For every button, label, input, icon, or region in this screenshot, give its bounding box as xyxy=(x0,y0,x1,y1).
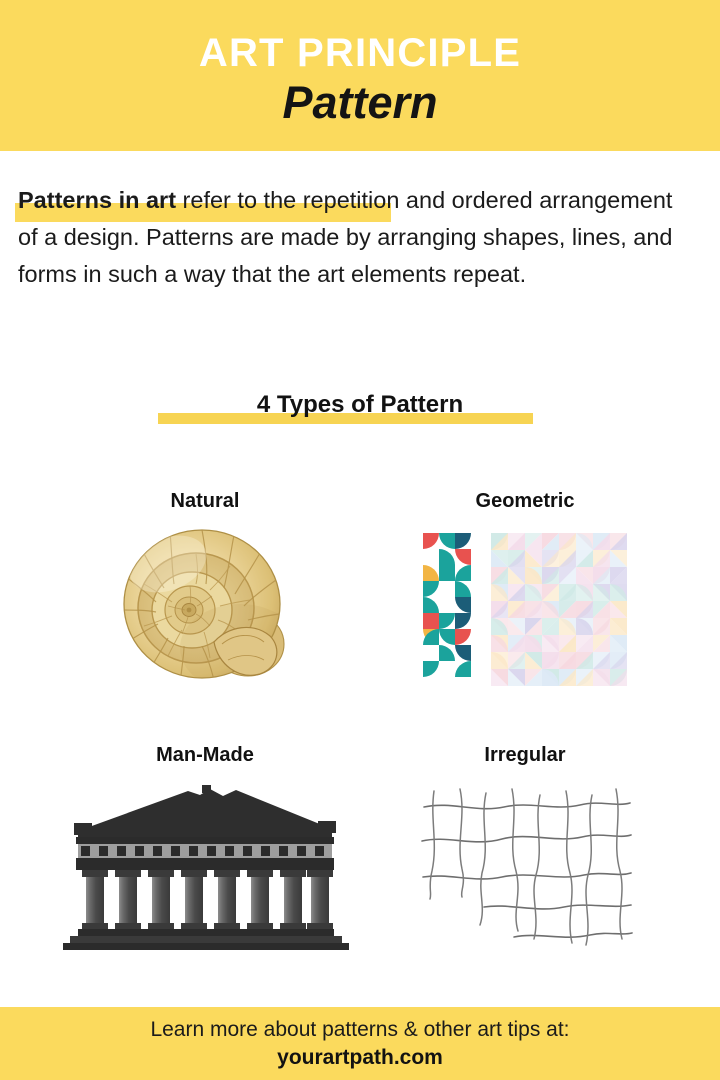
pattern-type-geometric: Geometric xyxy=(370,488,680,699)
section-heading-group: 4 Types of Pattern xyxy=(0,390,720,430)
greek-temple-columns-icon xyxy=(40,768,370,968)
footer-tagline: Learn more about patterns & other art ti… xyxy=(150,1016,569,1044)
pattern-type-natural: Natural xyxy=(40,488,370,699)
header-banner: ART PRINCIPLE Pattern xyxy=(0,0,720,151)
pattern-type-manmade-label: Man-Made xyxy=(40,742,370,768)
pattern-type-irregular-label: Irregular xyxy=(370,742,680,768)
pattern-type-irregular: Irregular xyxy=(370,742,680,968)
wavy-irregular-grid-icon xyxy=(370,768,680,968)
footer-website-link[interactable]: yourartpath.com xyxy=(277,1044,443,1071)
header-kicker: ART PRINCIPLE xyxy=(199,32,521,74)
pattern-type-manmade: Man-Made xyxy=(40,742,370,968)
intro-paragraph: Patterns in art refer to the repetition … xyxy=(18,182,690,293)
footer-banner: Learn more about patterns & other art ti… xyxy=(0,1007,720,1080)
pattern-type-natural-label: Natural xyxy=(40,488,370,514)
pattern-type-geometric-label: Geometric xyxy=(370,488,680,514)
geometric-tile-pattern-icon xyxy=(370,514,680,699)
section-heading: 4 Types of Pattern xyxy=(0,390,720,420)
intro-bold-lead: Patterns in art xyxy=(18,187,176,213)
page-title: Pattern xyxy=(282,78,437,128)
snail-shell-spiral-icon xyxy=(40,514,370,699)
